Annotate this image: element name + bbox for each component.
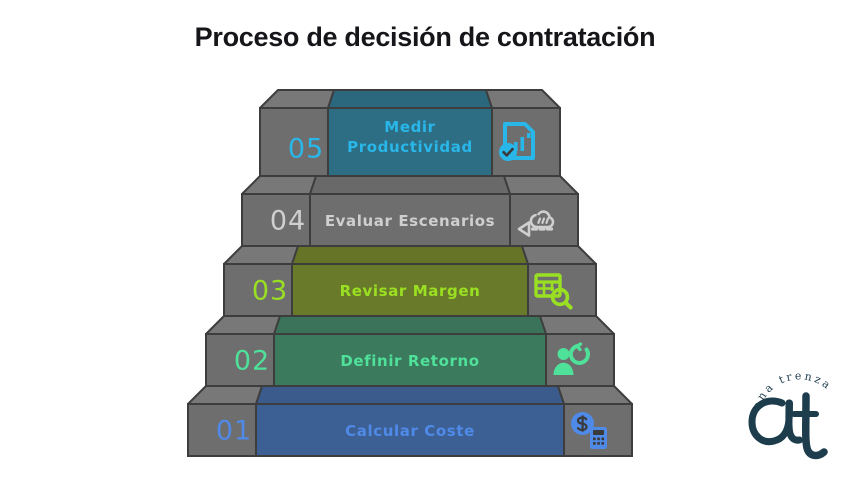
step-05-number: 05	[288, 134, 324, 165]
step-01-number: 01	[216, 416, 252, 447]
step-02-label: Definir Retorno	[340, 352, 479, 370]
step-02[interactable]: 02 Definir Retorno	[206, 316, 614, 386]
step-02-top-panel	[274, 316, 546, 334]
step-03[interactable]: 03 Revisar Margen	[224, 246, 596, 316]
step-03-number: 03	[252, 276, 288, 307]
step-01-label: Calcular Coste	[345, 422, 475, 440]
step-05[interactable]: 05 Medir Productividad	[260, 90, 560, 176]
logo-letter-t	[806, 396, 824, 455]
step-04[interactable]: 04 Evaluar Escenarios	[242, 176, 578, 246]
logo-letter-a-stem	[789, 403, 800, 440]
step-03-label: Revisar Margen	[340, 282, 481, 300]
step-03-top-panel	[292, 246, 528, 264]
step-01-top-panel	[256, 386, 564, 404]
step-02-number: 02	[234, 346, 270, 377]
staircase-diagram: 05 Medir Productividad 04 Evaluar Escena…	[0, 0, 850, 478]
step-05-label-line2: Productividad	[347, 138, 473, 156]
brand-logo: ana trenza	[736, 358, 848, 476]
logo-letter-a	[752, 401, 790, 442]
step-05-label-line1: Medir	[384, 118, 435, 136]
step-04-top-panel	[310, 176, 510, 194]
step-05-top-panel	[328, 90, 492, 108]
step-04-number: 04	[270, 206, 306, 237]
step-04-label: Evaluar Escenarios	[325, 212, 495, 230]
step-01[interactable]: 01 Calcular Coste	[188, 386, 632, 456]
